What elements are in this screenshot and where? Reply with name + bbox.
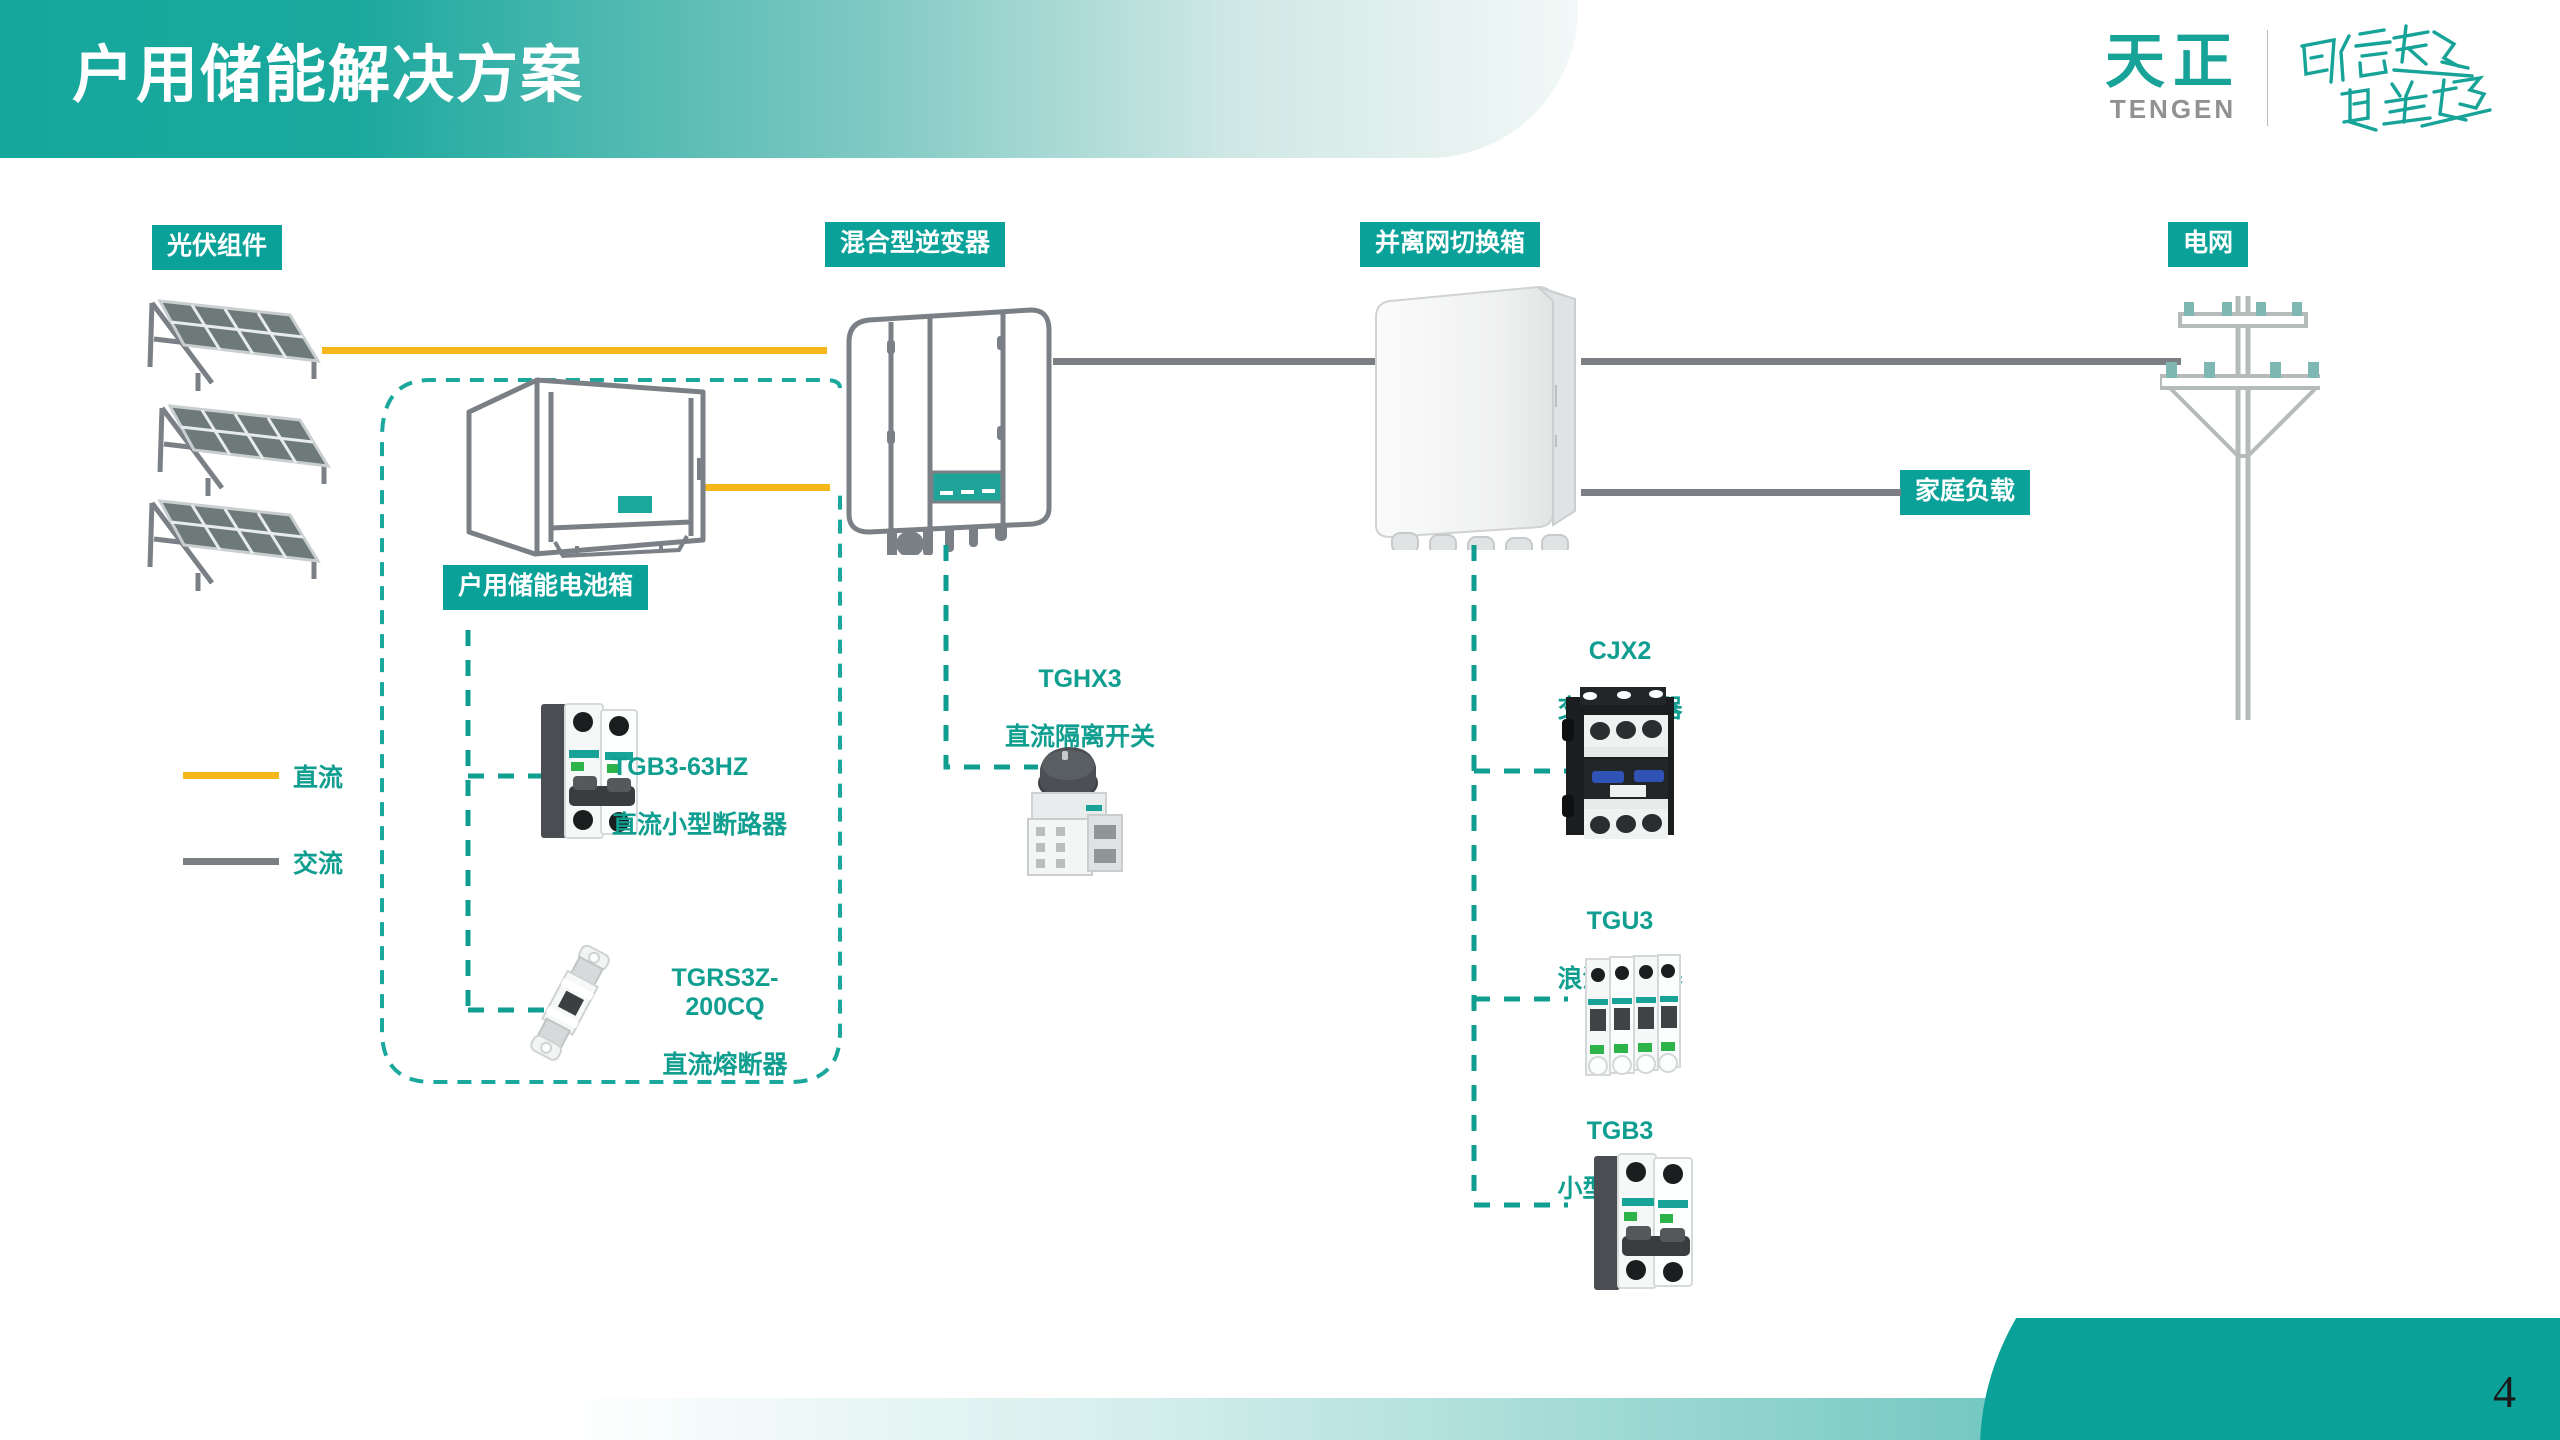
ac-contactor-icon (1562, 685, 1692, 845)
name-tgrs3z-200cq: 直流熔断器 (662, 1051, 787, 1079)
brand-logo: 天正 TENGEN (2105, 18, 2504, 138)
wire-ac-inverter-to-switchbox (1053, 358, 1376, 365)
logo-latin-name: TENGEN (2110, 94, 2236, 125)
grid-switch-box-icon (1370, 285, 1585, 550)
caption-tgrs3z-200cq: TGRS3Z- 200CQ 直流熔断器 (640, 935, 810, 1080)
dc-isolator-switch-icon (1010, 735, 1135, 885)
footer-corner-shape (1920, 1318, 2560, 1440)
label-hybrid-inverter: 混合型逆变器 (825, 222, 1005, 267)
logo-mark: 天正 TENGEN (2105, 32, 2241, 125)
legend-ac-line (183, 858, 279, 865)
miniature-circuit-breaker-icon (1588, 1148, 1703, 1298)
surge-protective-device-icon (1580, 953, 1690, 1083)
slide-root: 户用储能解决方案 天正 TENGEN (0, 0, 2560, 1440)
label-grid-switch-box: 并离网切换箱 (1360, 222, 1540, 267)
name-tgb3-63hz: 直流小型断路器 (612, 811, 787, 839)
wire-ac-switchbox-to-grid (1581, 358, 2181, 365)
pv-panel-icon (140, 495, 340, 605)
model-cjx2: CJX2 (1589, 637, 1652, 665)
logo-divider (2267, 30, 2268, 126)
caption-tgb3-63hz: TGB3-63HZ 直流小型断路器 (612, 724, 787, 840)
label-pv-modules: 光伏组件 (152, 225, 282, 270)
brand-slogan-calligraphy-icon (2294, 18, 2504, 138)
model-tgu3: TGU3 (1587, 907, 1654, 935)
model-tghx3: TGHX3 (1038, 665, 1121, 693)
model-tgb3: TGB3 (1587, 1117, 1654, 1145)
legend-dc-line (183, 772, 279, 779)
wire-ac-switchbox-to-load (1581, 489, 1901, 496)
label-home-load: 家庭负载 (1900, 470, 2030, 515)
model-tgrs3z-200cq: TGRS3Z- 200CQ (672, 964, 779, 1021)
hybrid-inverter-icon (835, 300, 1065, 555)
label-power-grid: 电网 (2168, 222, 2248, 267)
model-tgb3-63hz: TGB3-63HZ (612, 753, 748, 781)
page-title: 户用储能解决方案 (72, 24, 584, 114)
footer-blob (1980, 1318, 2560, 1440)
logo-chinese-name: 天正 (2105, 32, 2241, 92)
pv-panel-icon (140, 295, 340, 405)
page-number: 4 (2493, 1365, 2516, 1418)
legend-ac-label: 交流 (293, 844, 343, 880)
pv-panel-icon (150, 400, 350, 510)
legend-dc-label: 直流 (293, 758, 343, 794)
utility-pole-icon (2160, 290, 2320, 730)
wire-dc-pv-to-inverter (322, 347, 827, 354)
battery-cabinet-icon (455, 370, 745, 570)
dc-fuse-icon (510, 940, 630, 1070)
